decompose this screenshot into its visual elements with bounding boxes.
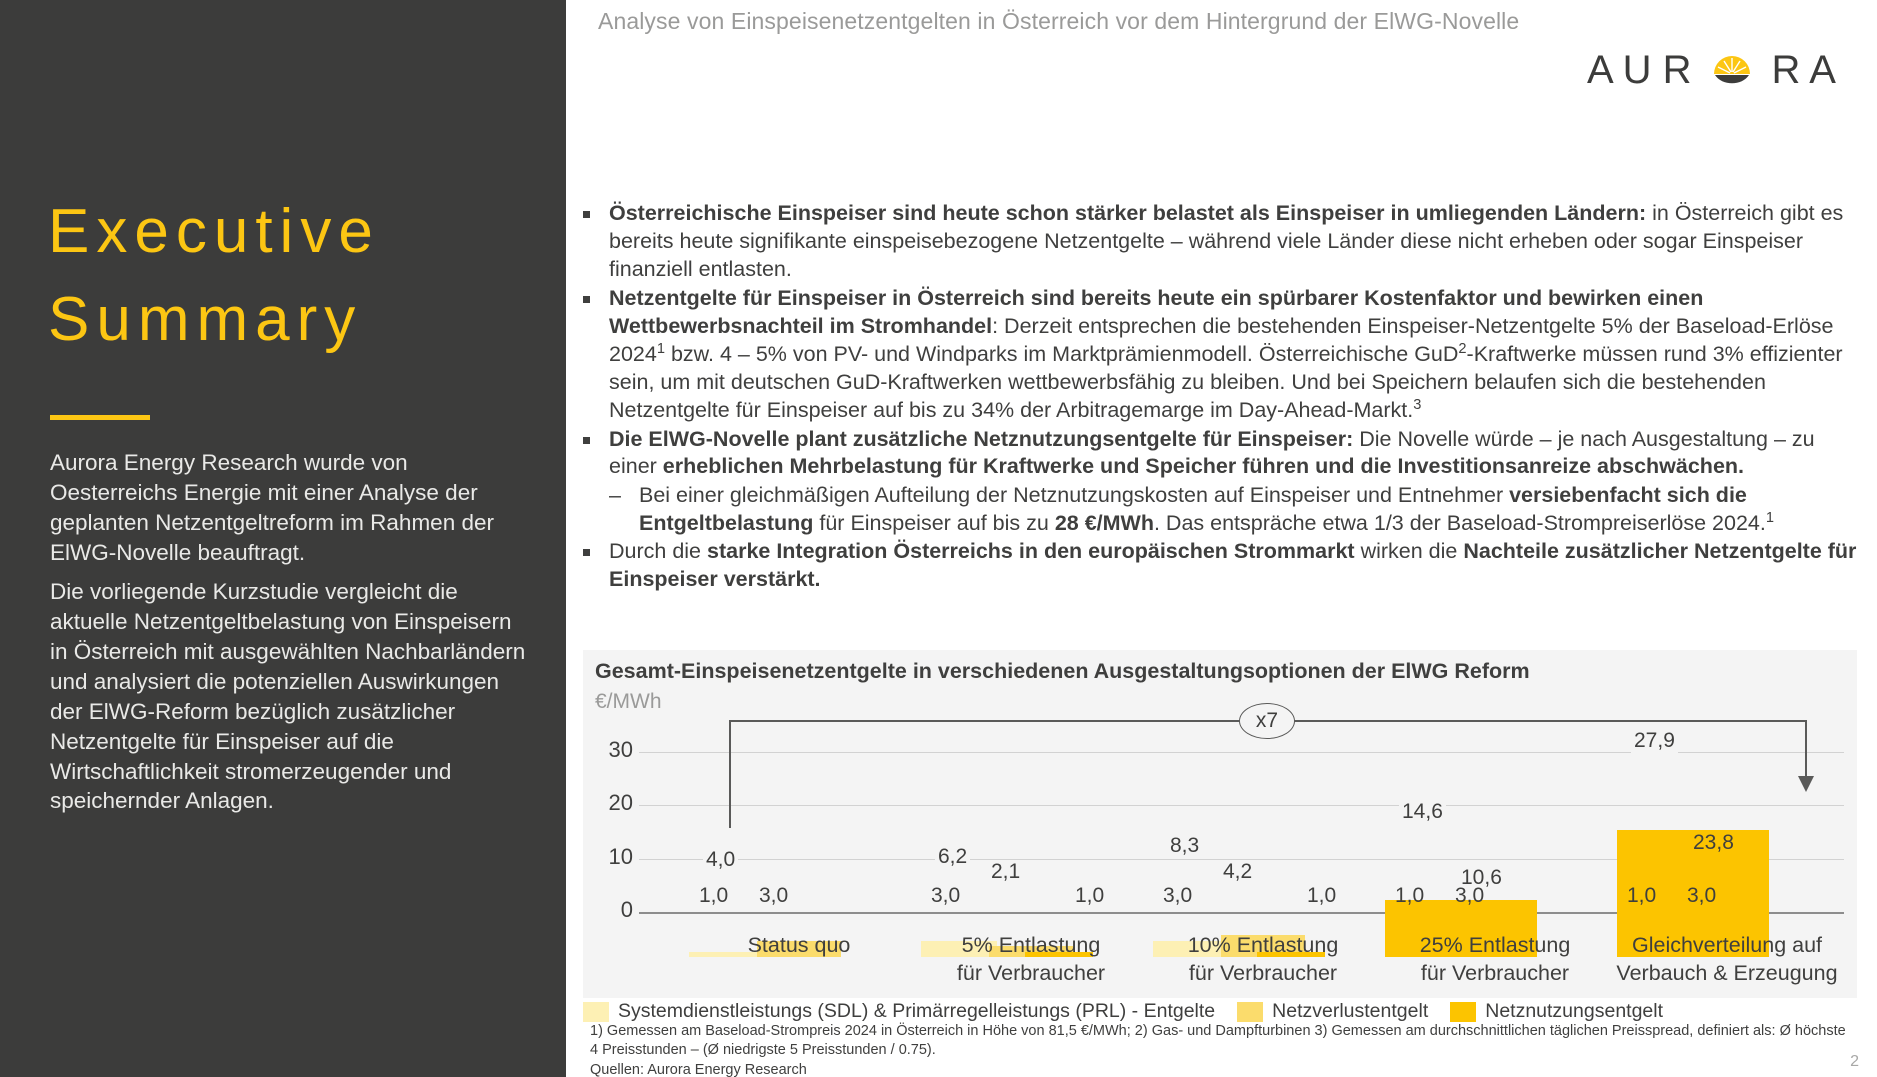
- chart-bar-group: [915, 727, 1147, 942]
- chart-value-label-netznutzung: 23,8: [1693, 831, 1734, 855]
- chart-x-category-line: für Verbraucher: [901, 960, 1161, 988]
- chart-x-category-label: 5% Entlastungfür Verbraucher: [901, 932, 1161, 987]
- footnote-line-2: Quellen: Aurora Energy Research: [590, 1061, 1850, 1077]
- sidebar-divider: [50, 415, 150, 420]
- sidebar-title-line1: Executive: [48, 188, 548, 276]
- chart-value-label-sdl: 1,0: [1627, 884, 1656, 908]
- annotation-multiplier-badge: x7: [1239, 703, 1295, 739]
- footnotes: 1) Gemessen am Baseload-Strompreis 2024 …: [590, 1022, 1850, 1077]
- bullet-2: Netzentgelte für Einspeiser in Österreic…: [583, 285, 1857, 425]
- bullet-3-text: Die ElWG-Novelle plant zusätzliche Netzn…: [609, 427, 1815, 479]
- legend-label: Netznutzungsentgelt: [1485, 1000, 1663, 1023]
- chart-x-category-line: für Verbraucher: [1365, 960, 1625, 988]
- chart-value-label-netznutzung: 10,6: [1461, 866, 1502, 890]
- legend-label: Netzverlustentgelt: [1272, 1000, 1428, 1023]
- bullet-2-text: Netzentgelte für Einspeiser in Österreic…: [609, 286, 1843, 422]
- chart-value-label-netzverlust: 2,1: [991, 860, 1020, 884]
- logo-text-left: A U R: [1587, 50, 1691, 90]
- chart-x-category-line: 10% Entlastung: [1133, 932, 1393, 960]
- chart-value-label-netzverlust: 3,0: [1687, 884, 1716, 908]
- chart-y-tick-label: 10: [583, 844, 633, 870]
- annotation-arrowhead: [1798, 776, 1814, 792]
- chart-bar-group: [1379, 727, 1611, 942]
- page-number: 2: [1850, 1053, 1859, 1071]
- chart-value-label-netznutzung: 1,0: [1307, 884, 1336, 908]
- chart-x-axis-categories: Status quo5% Entlastungfür Verbraucher10…: [583, 932, 1857, 994]
- sidebar-paragraph-2: Die vorliegende Kurzstudie vergleicht di…: [50, 577, 528, 816]
- logo-text-right: R A: [1772, 50, 1836, 90]
- chart-legend: Systemdienstleistungs (SDL) & Primärrege…: [583, 1000, 1857, 1023]
- subbullet-3a-text: Bei einer gleichmäßigen Aufteilung der N…: [639, 483, 1774, 535]
- footnote-line-1: 1) Gemessen am Baseload-Strompreis 2024 …: [590, 1022, 1850, 1061]
- legend-item: Netznutzungsentgelt: [1450, 1000, 1663, 1023]
- bullet-1-text: Österreichische Einspeiser sind heute sc…: [609, 201, 1843, 281]
- bullet-3: Die ElWG-Novelle plant zusätzliche Netzn…: [583, 426, 1857, 482]
- chart-value-label-netzverlust: 3,0: [759, 884, 788, 908]
- aurora-logo: A U R R A: [1576, 48, 1847, 92]
- chart-total-label: 27,9: [1631, 729, 1678, 753]
- chart-title: Gesamt-Einspeisenetzentgelte in verschie…: [595, 659, 1530, 684]
- slide: Executive Summary Aurora Energy Research…: [0, 0, 1877, 1077]
- chart-x-category-line: Verbauch & Erzeugung: [1597, 960, 1857, 988]
- legend-label: Systemdienstleistungs (SDL) & Primärrege…: [618, 1000, 1215, 1023]
- chart-total-label: 8,3: [1167, 834, 1202, 858]
- legend-item: Netzverlustentgelt: [1237, 1000, 1428, 1023]
- chart-y-tick-label: 20: [583, 790, 633, 816]
- legend-swatch: [583, 1002, 609, 1022]
- chart-x-category-label: Status quo: [669, 932, 929, 960]
- chart-plot-area: 01020304,01,03,06,23,02,11,08,33,04,21,0…: [583, 712, 1857, 927]
- chart-x-category-line: Gleichverteilung auf: [1597, 932, 1857, 960]
- legend-swatch: [1450, 1002, 1476, 1022]
- chart-total-label: 4,0: [703, 848, 738, 872]
- bullet-4: Durch die starke Integration Österreichs…: [583, 538, 1857, 594]
- subbullet-3a: Bei einer gleichmäßigen Aufteilung der N…: [583, 482, 1857, 538]
- chart-x-category-label: 10% Entlastungfür Verbraucher: [1133, 932, 1393, 987]
- legend-item: Systemdienstleistungs (SDL) & Primärrege…: [583, 1000, 1215, 1023]
- sidebar-paragraph-1: Aurora Energy Research wurde von Oesterr…: [50, 448, 528, 568]
- chart-x-category-line: für Verbraucher: [1133, 960, 1393, 988]
- chart-x-category-line: 5% Entlastung: [901, 932, 1161, 960]
- chart-value-label-sdl: 1,0: [1395, 884, 1424, 908]
- annotation-vertical-left: [729, 720, 731, 828]
- legend-swatch: [1237, 1002, 1263, 1022]
- annotation-vertical-right: [1805, 720, 1807, 776]
- page-header-title: Analyse von Einspeisenetzentgelten in Ös…: [598, 8, 1519, 35]
- chart-x-category-line: Status quo: [669, 932, 929, 960]
- chart-y-tick-label: 0: [583, 897, 633, 923]
- chart-x-category-label: 25% Entlastungfür Verbraucher: [1365, 932, 1625, 987]
- chart-value-label-netzverlust: 4,2: [1223, 860, 1252, 884]
- chart-y-tick-label: 30: [583, 737, 633, 763]
- chart-value-label-sdl: 3,0: [931, 884, 960, 908]
- chart-x-category-label: Gleichverteilung aufVerbauch & Erzeugung: [1597, 932, 1857, 987]
- bullet-4-text: Durch die starke Integration Österreichs…: [609, 539, 1856, 591]
- chart-value-label-sdl: 3,0: [1163, 884, 1192, 908]
- chart-total-label: 6,2: [935, 845, 970, 869]
- sidebar: Executive Summary Aurora Energy Research…: [0, 0, 566, 1077]
- chart-unit-label: €/MWh: [595, 690, 662, 714]
- sidebar-title: Executive Summary: [48, 188, 548, 364]
- sidebar-title-line2: Summary: [48, 276, 548, 364]
- chart-bar-group: [683, 727, 915, 942]
- sunrise-icon: [1710, 48, 1754, 92]
- bullet-1: Österreichische Einspeiser sind heute sc…: [583, 200, 1857, 284]
- chart-total-label: 14,6: [1399, 800, 1446, 824]
- chart-panel: Gesamt-Einspeisenetzentgelte in verschie…: [583, 650, 1857, 998]
- chart-value-label-sdl: 1,0: [699, 884, 728, 908]
- summary-bullets: Österreichische Einspeiser sind heute sc…: [583, 200, 1857, 595]
- chart-x-category-line: 25% Entlastung: [1365, 932, 1625, 960]
- chart-value-label-netznutzung: 1,0: [1075, 884, 1104, 908]
